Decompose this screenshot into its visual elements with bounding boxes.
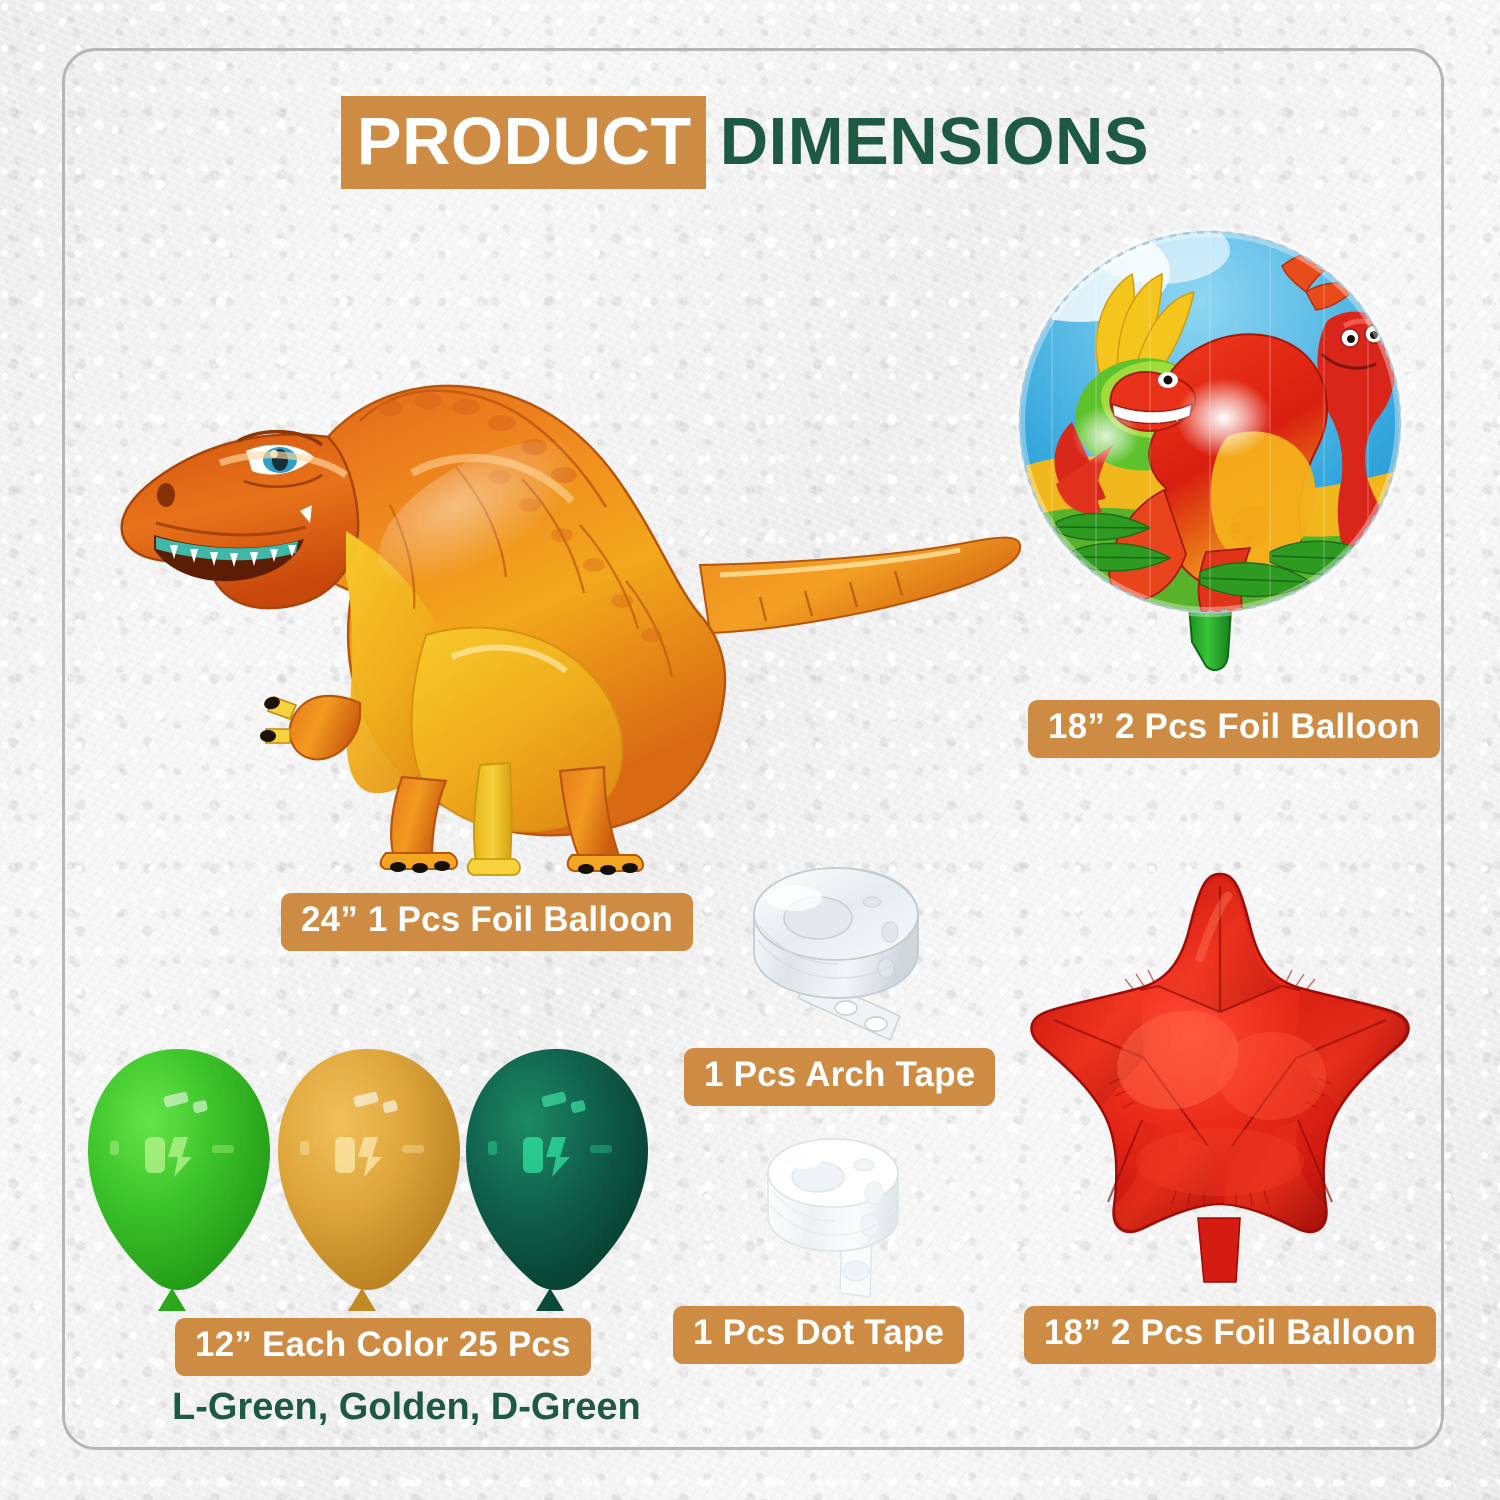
star-foil-balloon-label: 18” 2 Pcs Foil Balloon xyxy=(1024,1306,1436,1364)
title-rest: DIMENSIONS xyxy=(706,96,1159,189)
trex-foil-balloon-image xyxy=(60,205,1030,870)
latex-balloons-image xyxy=(88,1045,648,1320)
round-foil-balloon-label: 18” 2 Pcs Foil Balloon xyxy=(1028,700,1440,758)
arch-tape-label: 1 Pcs Arch Tape xyxy=(684,1048,995,1106)
title-highlight: PRODUCT xyxy=(341,96,706,189)
arch-tape-image xyxy=(740,848,930,1048)
round-foil-balloon-image xyxy=(1010,222,1430,692)
dot-tape-image xyxy=(756,1125,916,1305)
dot-tape-label: 1 Pcs Dot Tape xyxy=(673,1306,964,1364)
trex-foil-balloon-label: 24” 1 Pcs Foil Balloon xyxy=(281,893,693,951)
page-title: PRODUCT DIMENSIONS xyxy=(0,96,1500,189)
latex-balloons-label: 12” Each Color 25 Pcs xyxy=(175,1318,591,1376)
latex-balloons-caption: L-Green, Golden, D-Green xyxy=(172,1388,641,1428)
infographic-canvas: PRODUCT DIMENSIONS xyxy=(0,0,1500,1500)
star-foil-balloon-image xyxy=(1000,862,1440,1292)
